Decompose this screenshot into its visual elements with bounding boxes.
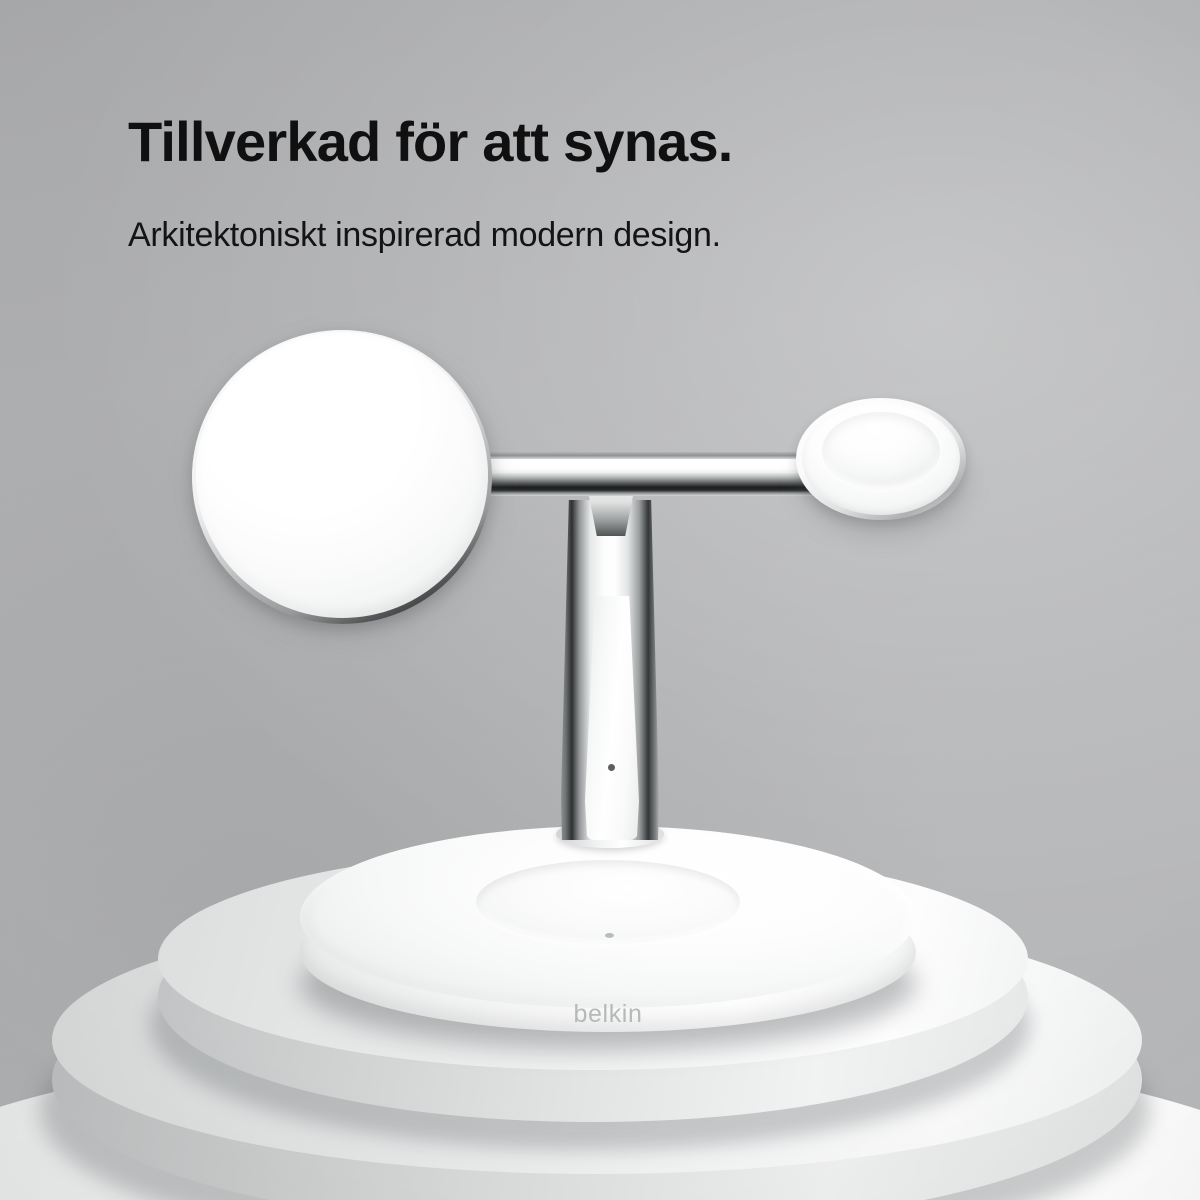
- page-title: Tillverkad för att synas.: [128, 112, 733, 171]
- column-led-indicator-icon: [608, 764, 615, 771]
- status-led-indicator-icon: [605, 933, 614, 938]
- chrome-column-front-face: [585, 596, 639, 840]
- wireless-charging-well: [476, 860, 740, 944]
- marketing-copy-block: Tillverkad för att synas. Arkitektoniskt…: [128, 112, 733, 256]
- belkin-wordmark: belkin: [300, 1002, 916, 1027]
- product-hero-image: belkin Tillverkad för att synas. Arkitek…: [0, 0, 1200, 1200]
- chrome-column: [561, 500, 659, 840]
- page-subtitle: Arkitektoniskt inspirerad modern design.: [128, 215, 733, 256]
- watch-puck-dome: [822, 412, 940, 490]
- magsafe-pad-face: [196, 332, 488, 618]
